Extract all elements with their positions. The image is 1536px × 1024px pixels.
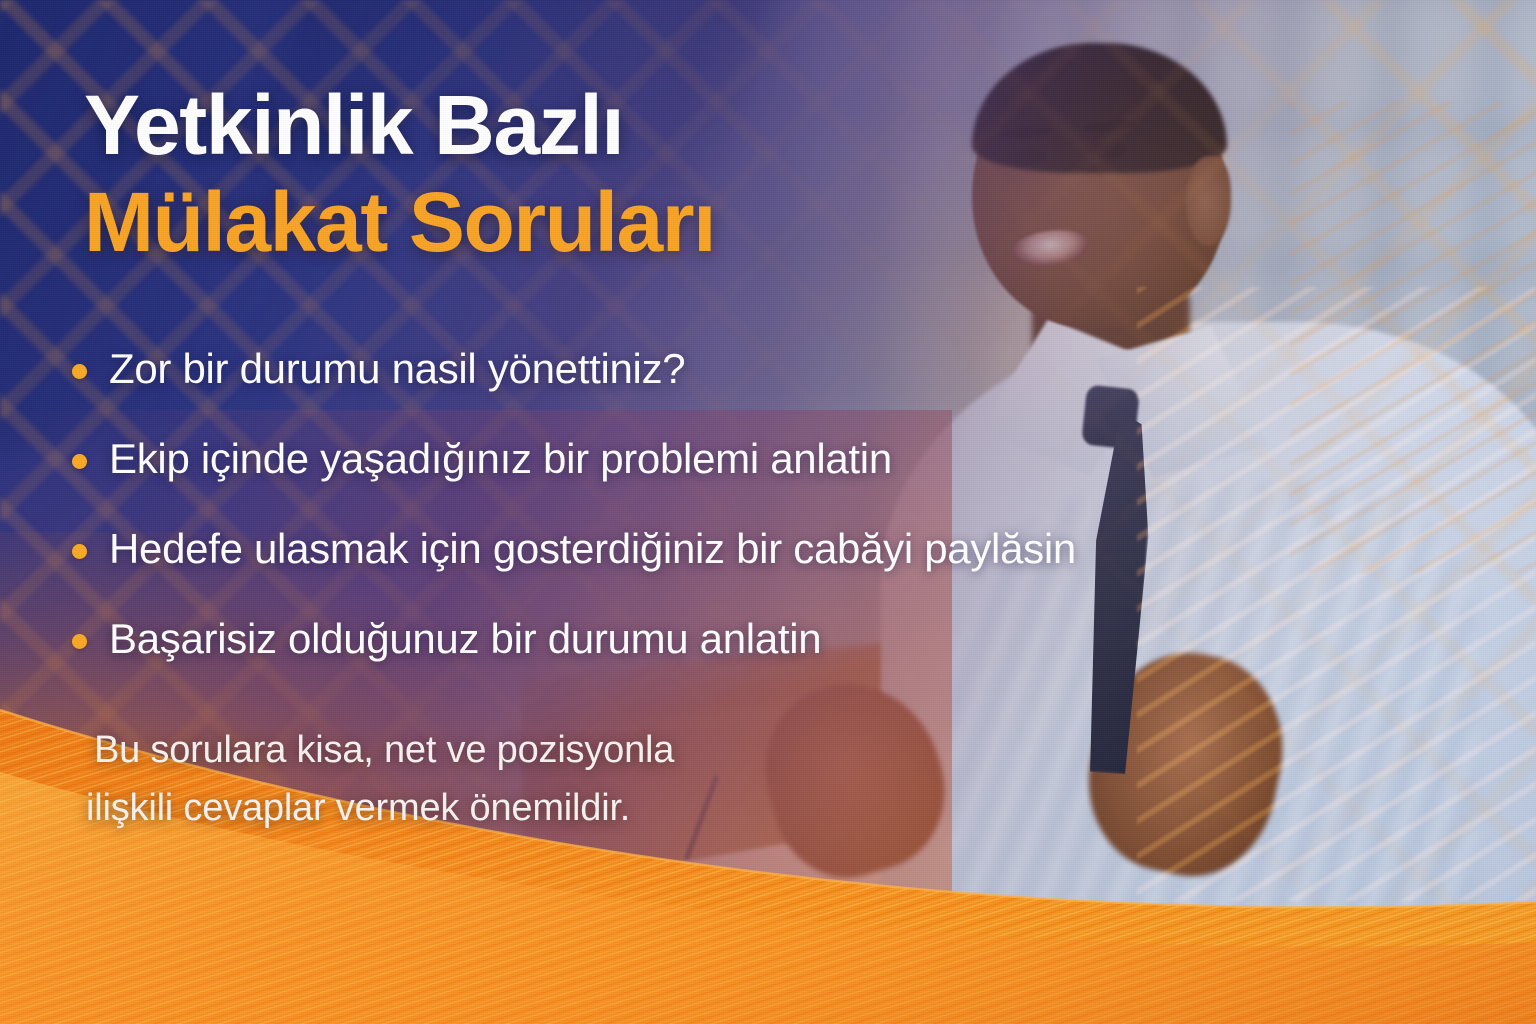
closing-note-line-2: ilişkili cevaplar vermek önemildir.	[86, 780, 674, 838]
bullet-dot-icon	[72, 634, 87, 649]
bullet-dot-icon	[72, 454, 87, 469]
bullet-dot-icon	[72, 544, 87, 559]
closing-note: Bu sorulara kisa, net ve pozisyonla iliş…	[94, 722, 674, 838]
question-text: Ekip içinde yaşadığınız bir problemi anl…	[109, 436, 892, 481]
list-item: Zor bir durumu nasil yönettiniz?	[72, 346, 1076, 392]
list-item: Hedefe ulasmak için gosterdiğiniz bir ca…	[72, 526, 1076, 572]
list-item: Ekip içinde yaşadığınız bir problemi anl…	[72, 436, 1076, 482]
question-list: Zor bir durumu nasil yönettiniz? Ekip iç…	[72, 346, 1076, 706]
list-item: Başarisiz olduğunuz bir durumu anlatin	[72, 616, 1076, 662]
closing-note-line-1: Bu sorulara kisa, net ve pozisyonla	[94, 722, 674, 780]
poster-content: Yetkinlik Bazlı Mülakat Soruları Zor bir…	[0, 0, 1536, 1024]
poster-title: Yetkinlik Bazlı Mülakat Soruları	[84, 82, 715, 265]
question-text: Başarisiz olduğunuz bir durumu anlatin	[109, 616, 821, 661]
question-text: Zor bir durumu nasil yönettiniz?	[109, 346, 685, 391]
title-line-accent: Mülakat Soruları	[84, 179, 715, 266]
poster-canvas: Yetkinlik Bazlı Mülakat Soruları Zor bir…	[0, 0, 1536, 1024]
title-line-primary: Yetkinlik Bazlı	[84, 82, 715, 169]
bullet-dot-icon	[72, 364, 87, 379]
question-text: Hedefe ulasmak için gosterdiğiniz bir ca…	[109, 526, 1076, 571]
